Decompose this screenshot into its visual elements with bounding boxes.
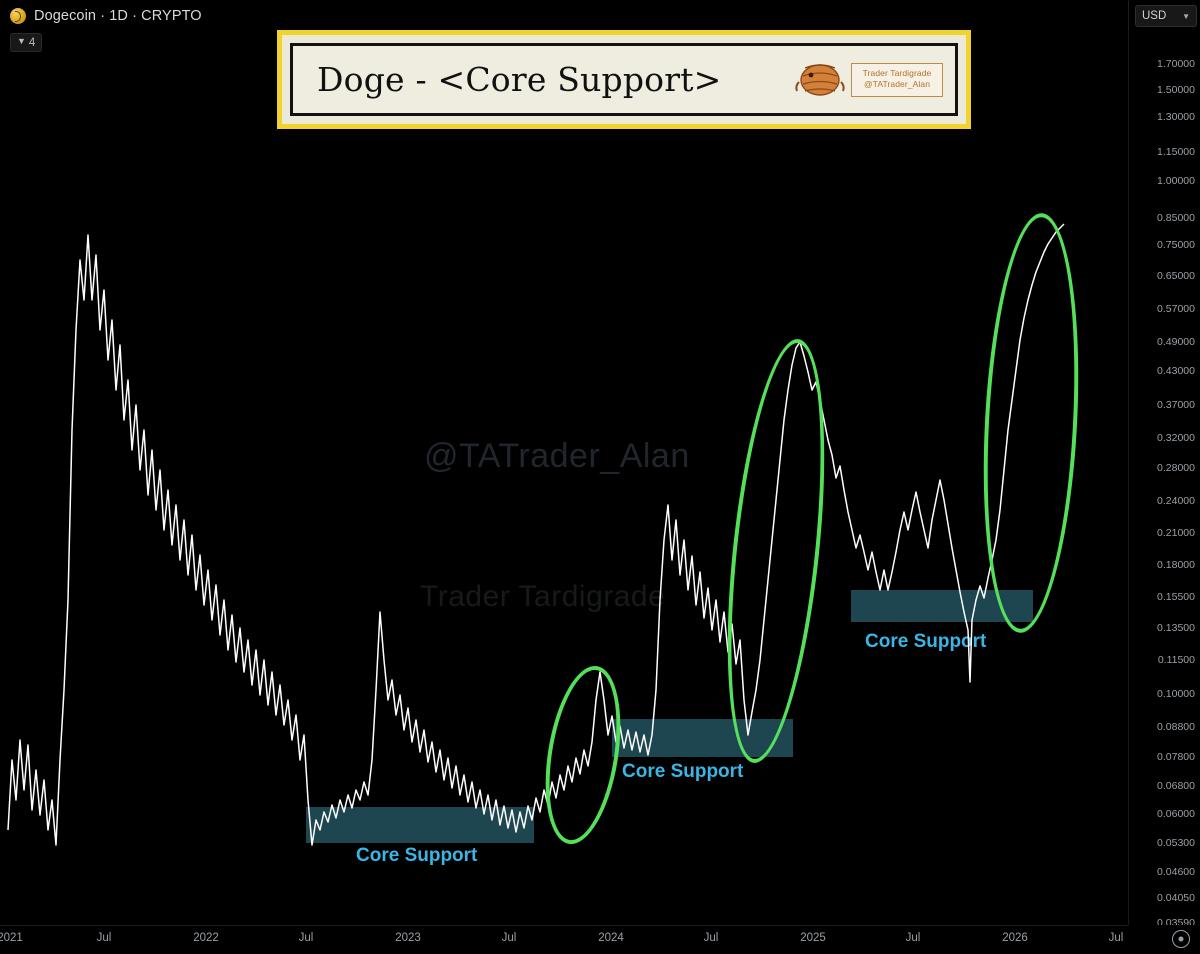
author-name: Trader Tardigrade xyxy=(863,69,932,79)
y-tick: 1.30000 xyxy=(1157,111,1195,123)
x-tick: 2024 xyxy=(598,932,624,944)
chart-plot-area[interactable]: @TATrader_Alan Trader Tardigrade Core Su… xyxy=(0,0,1128,925)
y-tick: 0.65000 xyxy=(1157,270,1195,282)
y-tick: 0.18000 xyxy=(1157,559,1195,571)
currency-unit-label: USD xyxy=(1142,10,1166,22)
currency-unit-select[interactable]: USD ▼ xyxy=(1135,5,1197,27)
x-axis[interactable]: 2021 Jul 2022 Jul 2023 Jul 2024 Jul 2025… xyxy=(0,925,1128,954)
y-tick: 0.85000 xyxy=(1157,212,1195,224)
y-tick: 0.24000 xyxy=(1157,495,1195,507)
y-tick: 0.21000 xyxy=(1157,527,1195,539)
y-tick: 0.49000 xyxy=(1157,336,1195,348)
y-tick: 0.43000 xyxy=(1157,365,1195,377)
y-tick: 0.57000 xyxy=(1157,303,1195,315)
x-tick: Jul xyxy=(704,932,719,944)
x-tick: 2026 xyxy=(1002,932,1028,944)
x-tick: 2022 xyxy=(193,932,219,944)
y-tick: 0.06000 xyxy=(1157,808,1195,820)
y-tick: 0.75000 xyxy=(1157,239,1195,251)
y-tick: 0.05300 xyxy=(1157,837,1195,849)
y-tick: 0.15500 xyxy=(1157,591,1195,603)
x-tick: 2023 xyxy=(395,932,421,944)
target-icon[interactable] xyxy=(1172,930,1190,948)
tardigrade-logo-icon xyxy=(793,58,847,102)
y-tick: 1.00000 xyxy=(1157,175,1195,187)
y-tick: 0.07800 xyxy=(1157,751,1195,763)
y-tick: 0.13500 xyxy=(1157,622,1195,634)
y-tick: 0.04050 xyxy=(1157,892,1195,904)
x-tick: Jul xyxy=(502,932,517,944)
y-tick: 0.37000 xyxy=(1157,399,1195,411)
banner-title: Doge - <Core Support> xyxy=(317,60,722,99)
author-handle: @TATrader_Alan xyxy=(864,80,930,90)
x-tick: Jul xyxy=(906,932,921,944)
y-tick: 0.06800 xyxy=(1157,780,1195,792)
y-tick: 0.04600 xyxy=(1157,866,1195,878)
title-banner: Doge - <Core Support> Trader Tardigrade … xyxy=(277,30,971,129)
y-tick: 0.08800 xyxy=(1157,721,1195,733)
x-tick: 2025 xyxy=(800,932,826,944)
x-tick: 2021 xyxy=(0,932,23,944)
y-tick: 1.50000 xyxy=(1157,84,1195,96)
y-tick: 1.15000 xyxy=(1157,146,1195,158)
y-tick: 0.32000 xyxy=(1157,432,1195,444)
x-tick: Jul xyxy=(299,932,314,944)
chevron-down-icon: ▼ xyxy=(1182,12,1190,21)
axis-corner xyxy=(1128,925,1200,953)
y-tick: 0.11500 xyxy=(1158,654,1195,666)
y-tick: 0.10000 xyxy=(1157,688,1195,700)
y-axis[interactable]: USD ▼ 1.70000 1.50000 1.30000 1.15000 1.… xyxy=(1128,0,1200,953)
author-card: Trader Tardigrade @TATrader_Alan xyxy=(851,63,943,97)
y-tick: 0.28000 xyxy=(1157,462,1195,474)
x-tick: Jul xyxy=(97,932,112,944)
x-tick: Jul xyxy=(1109,932,1124,944)
chart-screenshot: Dogecoin · 1D · CRYPTO ▼ 4 @TATrader_Ala… xyxy=(0,0,1200,953)
title-banner-inner: Doge - <Core Support> Trader Tardigrade … xyxy=(290,43,958,116)
y-tick: 1.70000 xyxy=(1157,58,1195,70)
